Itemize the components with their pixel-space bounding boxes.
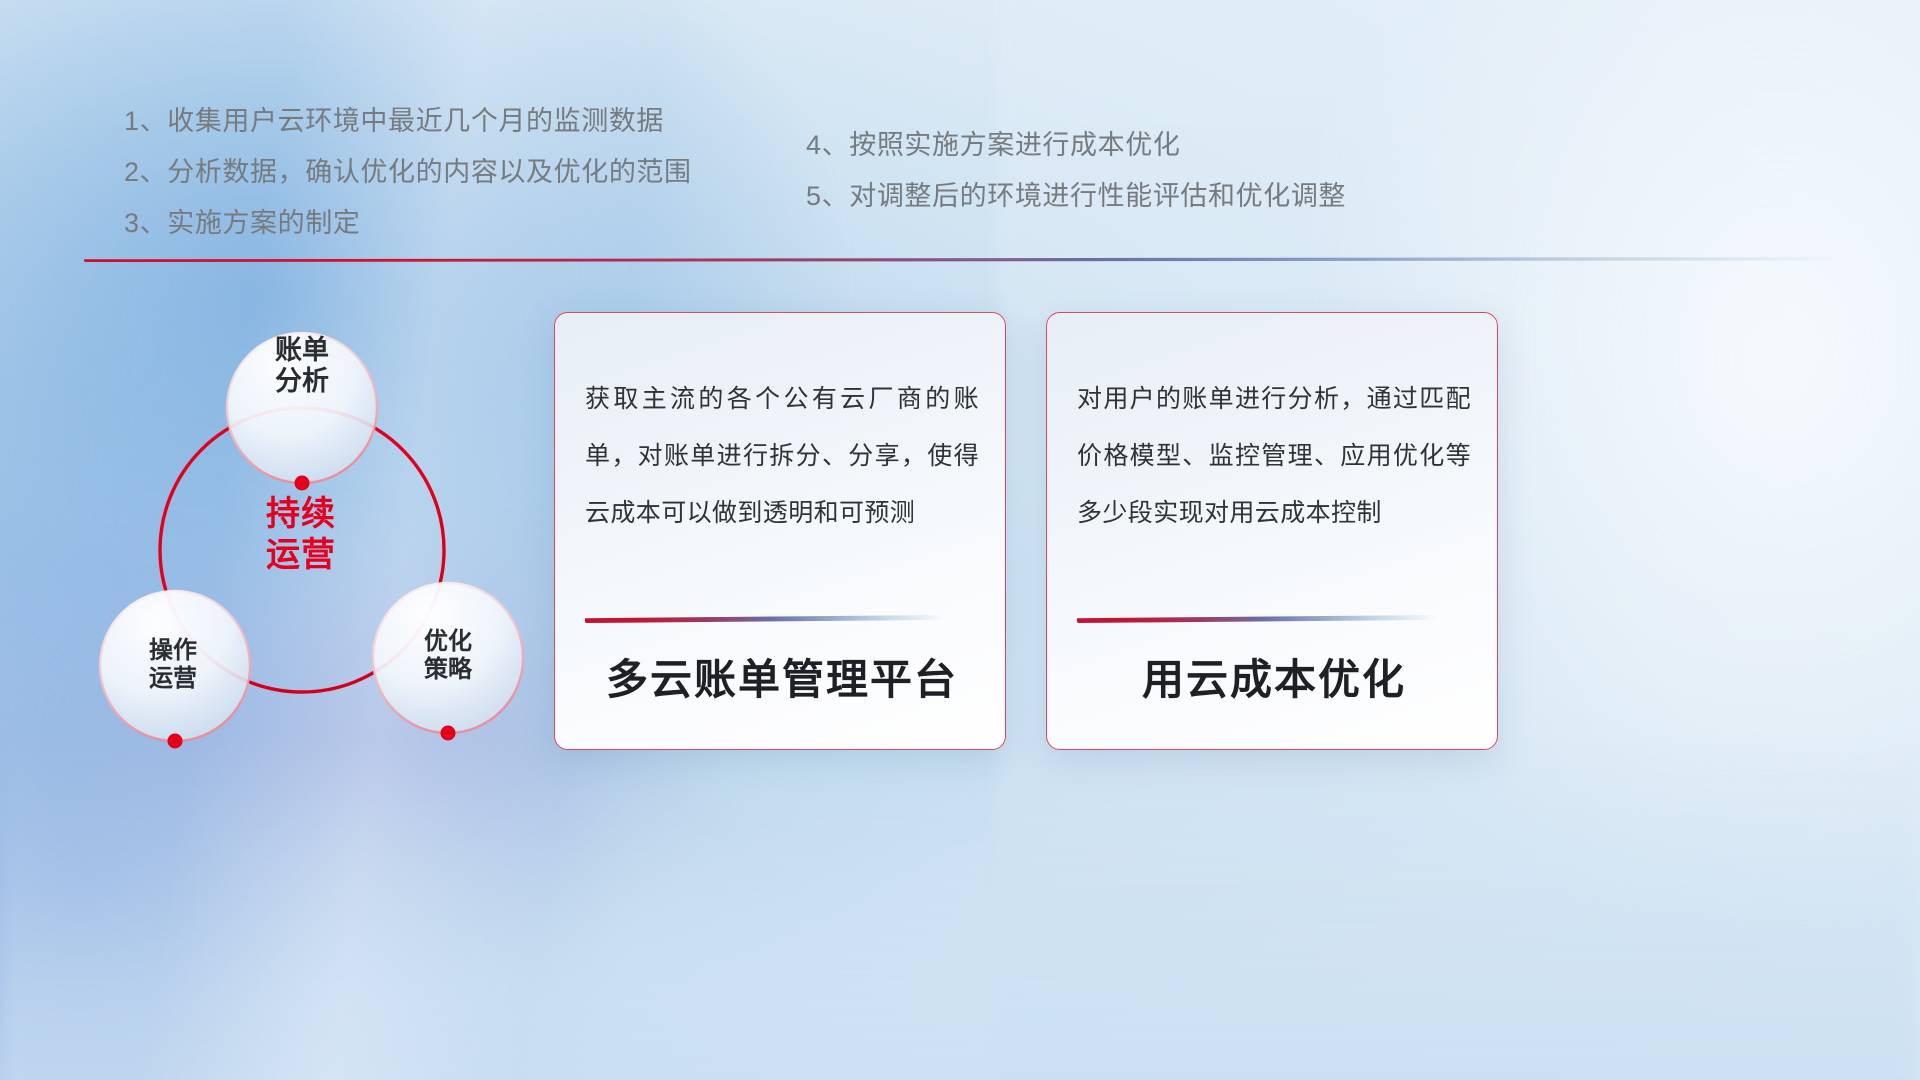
card-body-text: 获取主流的各个公有云厂商的账单，对账单进行拆分、分享，使得云成本可以做到透明和可… xyxy=(585,371,979,542)
info-card-cloud-cost-optimization[interactable]: 对用户的账单进行分析，通过匹配价格模型、监控管理、应用优化等多少段实现对用云成本… xyxy=(1046,312,1498,750)
bullet-item: 2、分析数据，确认优化的内容以及优化的范围 xyxy=(124,147,692,198)
bullet-item: 5、对调整后的环境进行性能评估和优化调整 xyxy=(806,171,1346,222)
bullet-list-left: 1、收集用户云环境中最近几个月的监测数据 2、分析数据，确认优化的内容以及优化的… xyxy=(124,96,692,249)
section-divider xyxy=(84,255,1844,263)
venn-label-center: 持续 运营 xyxy=(221,494,381,576)
divider-gradient-bar xyxy=(84,257,1844,262)
card-title: 多云账单管理平台 xyxy=(585,646,979,707)
bullet-list-right: 4、按照实施方案进行成本优化 5、对调整后的环境进行性能评估和优化调整 xyxy=(806,120,1346,222)
card-body-text: 对用户的账单进行分析，通过匹配价格模型、监控管理、应用优化等多少段实现对用云成本… xyxy=(1077,371,1471,542)
venn-label-strategy: 优化 策略 xyxy=(373,628,523,684)
venn-node-dot-left xyxy=(168,734,183,749)
card-accent-rule xyxy=(1077,615,1437,623)
bullet-item: 4、按照实施方案进行成本优化 xyxy=(806,120,1346,171)
bullet-item: 1、收集用户云环境中最近几个月的监测数据 xyxy=(124,96,692,147)
bullet-item: 3、实施方案的制定 xyxy=(124,198,692,249)
venn-node-dot-right xyxy=(441,726,456,741)
info-card-multi-cloud-billing[interactable]: 获取主流的各个公有云厂商的账单，对账单进行拆分、分享，使得云成本可以做到透明和可… xyxy=(554,312,1006,750)
venn-node-dot-top xyxy=(295,476,310,491)
venn-label-operation: 操作 运营 xyxy=(99,637,247,693)
venn-label-bill-analysis: 账单 分析 xyxy=(222,335,382,398)
card-title: 用云成本优化 xyxy=(1077,646,1471,707)
card-accent-rule xyxy=(585,615,945,623)
